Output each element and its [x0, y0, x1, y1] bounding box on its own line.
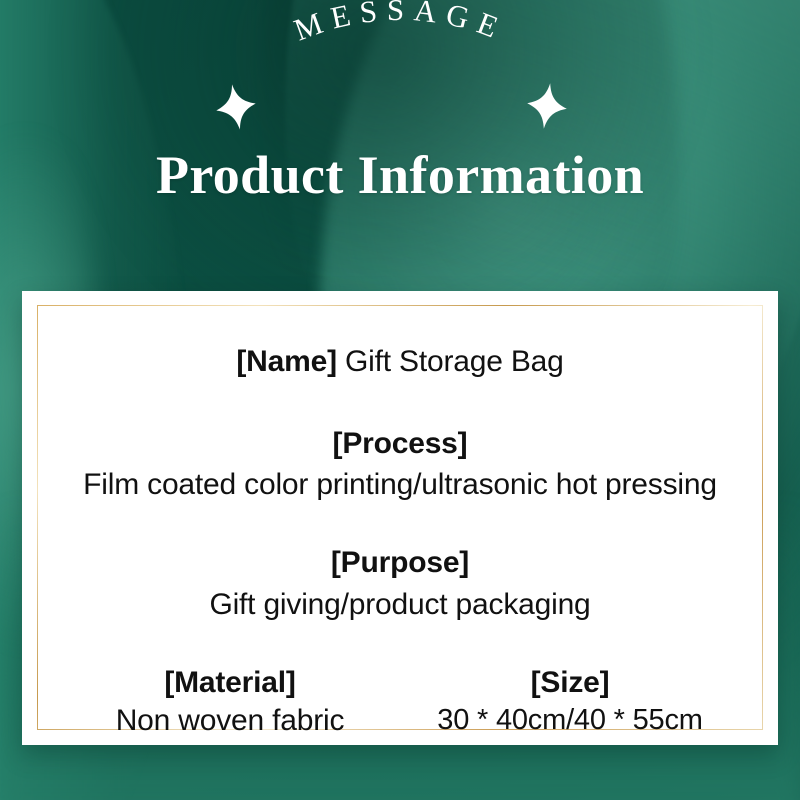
info-value-purpose: Gift giving/product packaging [60, 585, 740, 624]
sparkle-icon [524, 80, 570, 131]
product-information-card: [Name] Gift Storage Bag [Process] Film c… [22, 291, 778, 745]
sparkle-right-glyph [524, 80, 570, 131]
info-label-process: [Process] [60, 425, 740, 463]
product-information-banner: MESSAGE Product Information [Name] Gift … [0, 0, 800, 800]
info-label-size: [Size] [400, 666, 740, 700]
info-row-material-size: [Material] Non woven fabric [Size] 30 * … [60, 642, 740, 752]
sparkle-icon [212, 81, 259, 133]
info-value-process: Film coated color printing/ultrasonic ho… [60, 465, 740, 504]
info-row-process: [Process] Film coated color printing/ult… [60, 403, 740, 522]
info-value-material: Non woven fabric [60, 704, 400, 738]
header: MESSAGE Product Information [0, 0, 800, 290]
info-row-name: [Name] Gift Storage Bag [60, 319, 740, 403]
sparkle-left-glyph [212, 81, 259, 133]
info-col-material: [Material] Non woven fabric [60, 666, 400, 738]
eyebrow-text: MESSAGE [289, 0, 511, 48]
info-label-material: [Material] [60, 666, 400, 700]
info-value-name: Gift Storage Bag [345, 345, 564, 378]
info-label-name: [Name] [236, 345, 337, 378]
info-label-purpose: [Purpose] [60, 544, 740, 582]
info-col-size: [Size] 30 * 40cm/40 * 55cm [400, 666, 740, 737]
info-value-size: 30 * 40cm/40 * 55cm [400, 704, 740, 737]
card-body: [Name] Gift Storage Bag [Process] Film c… [60, 319, 740, 717]
info-row-purpose: [Purpose] Gift giving/product packaging [60, 522, 740, 641]
page-title: Product Information [0, 147, 800, 204]
